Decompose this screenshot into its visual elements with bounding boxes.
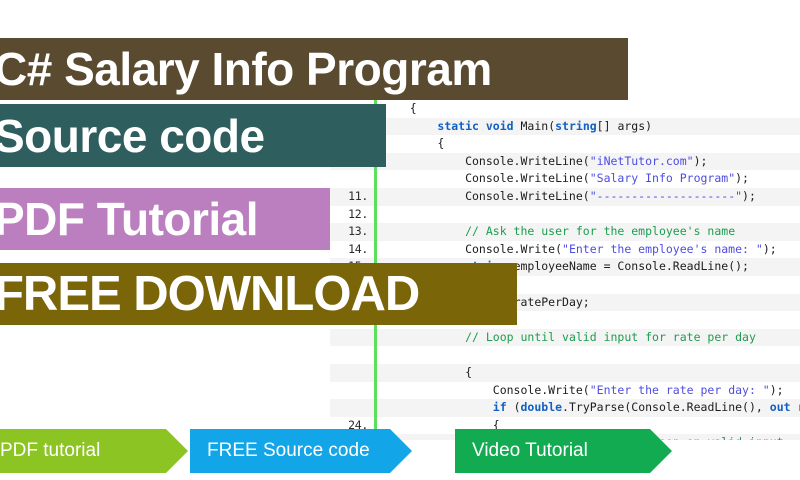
cta-chevron-strip: PDF tutorial FREE Source code Video Tuto…	[0, 429, 800, 473]
line-number: 12.	[330, 206, 368, 224]
code-line[interactable]: Console.WriteLine("iNetTutor.com");	[330, 153, 800, 171]
banner-title: C# Salary Info Program	[0, 38, 628, 100]
code-line-text: Console.WriteLine("iNetTutor.com");	[382, 153, 707, 171]
code-line-text: if (double.TryParse(Console.ReadLine(), …	[382, 399, 800, 417]
banner-source-code: Source code	[0, 104, 386, 167]
line-number: 11.	[330, 188, 368, 206]
code-line-text: Console.Write("Enter the employee's name…	[382, 241, 777, 259]
code-line-text: // Ask the user for the employee's name	[382, 223, 735, 241]
chevron-video-tutorial[interactable]: Video Tutorial	[455, 429, 672, 473]
change-indicator-bar	[374, 399, 377, 417]
code-line[interactable]: 11. Console.WriteLine("-----------------…	[330, 188, 800, 206]
change-indicator-bar	[374, 170, 377, 188]
change-indicator-bar	[374, 382, 377, 400]
code-line[interactable]: {	[330, 100, 800, 118]
code-line[interactable]	[330, 346, 800, 364]
banner-free-download: FREE DOWNLOAD	[0, 263, 517, 325]
banner-source-code-text: Source code	[0, 109, 265, 163]
code-line[interactable]: {	[330, 364, 800, 382]
change-indicator-bar	[374, 206, 377, 224]
chevron-free-source-code-label: FREE Source code	[207, 440, 370, 462]
code-line[interactable]: if (double.TryParse(Console.ReadLine(), …	[330, 399, 800, 417]
chevron-pdf-tutorial[interactable]: PDF tutorial	[0, 429, 188, 473]
code-line-text: Console.Write("Enter the rate per day: "…	[382, 382, 784, 400]
code-line-text: // Loop until valid input for rate per d…	[382, 329, 756, 347]
change-indicator-bar	[374, 364, 377, 382]
line-number: 13.	[330, 223, 368, 241]
code-line[interactable]: static void Main(string[] args)	[330, 118, 800, 136]
code-line[interactable]: 12.	[330, 206, 800, 224]
code-line-text: {	[382, 135, 444, 153]
banner-free-download-text: FREE DOWNLOAD	[0, 266, 419, 322]
banner-pdf-tutorial: PDF Tutorial	[0, 188, 330, 250]
code-line-text: Console.WriteLine("--------------------"…	[382, 188, 756, 206]
chevron-free-source-code[interactable]: FREE Source code	[190, 429, 412, 473]
change-indicator-bar	[374, 329, 377, 347]
code-line[interactable]: Console.Write("Enter the rate per day: "…	[330, 382, 800, 400]
chevron-video-tutorial-label: Video Tutorial	[472, 440, 588, 462]
change-indicator-bar	[374, 241, 377, 259]
code-line-text: Console.WriteLine("Salary Info Program")…	[382, 170, 749, 188]
change-indicator-bar	[374, 346, 377, 364]
chevron-pdf-tutorial-label: PDF tutorial	[0, 440, 100, 462]
change-indicator-bar	[374, 188, 377, 206]
change-indicator-bar	[374, 223, 377, 241]
banner-title-text: C# Salary Info Program	[0, 42, 492, 96]
code-line-text: static void Main(string[] args)	[382, 118, 652, 136]
code-line[interactable]: 14. Console.Write("Enter the employee's …	[330, 241, 800, 259]
code-line[interactable]: // Loop until valid input for rate per d…	[330, 329, 800, 347]
banner-pdf-tutorial-text: PDF Tutorial	[0, 192, 258, 246]
code-line-text: {	[382, 100, 417, 118]
code-line[interactable]: Console.WriteLine("Salary Info Program")…	[330, 170, 800, 188]
code-line-text: {	[382, 364, 472, 382]
code-line[interactable]: 13. // Ask the user for the employee's n…	[330, 223, 800, 241]
code-line[interactable]: {	[330, 135, 800, 153]
line-number: 14.	[330, 241, 368, 259]
